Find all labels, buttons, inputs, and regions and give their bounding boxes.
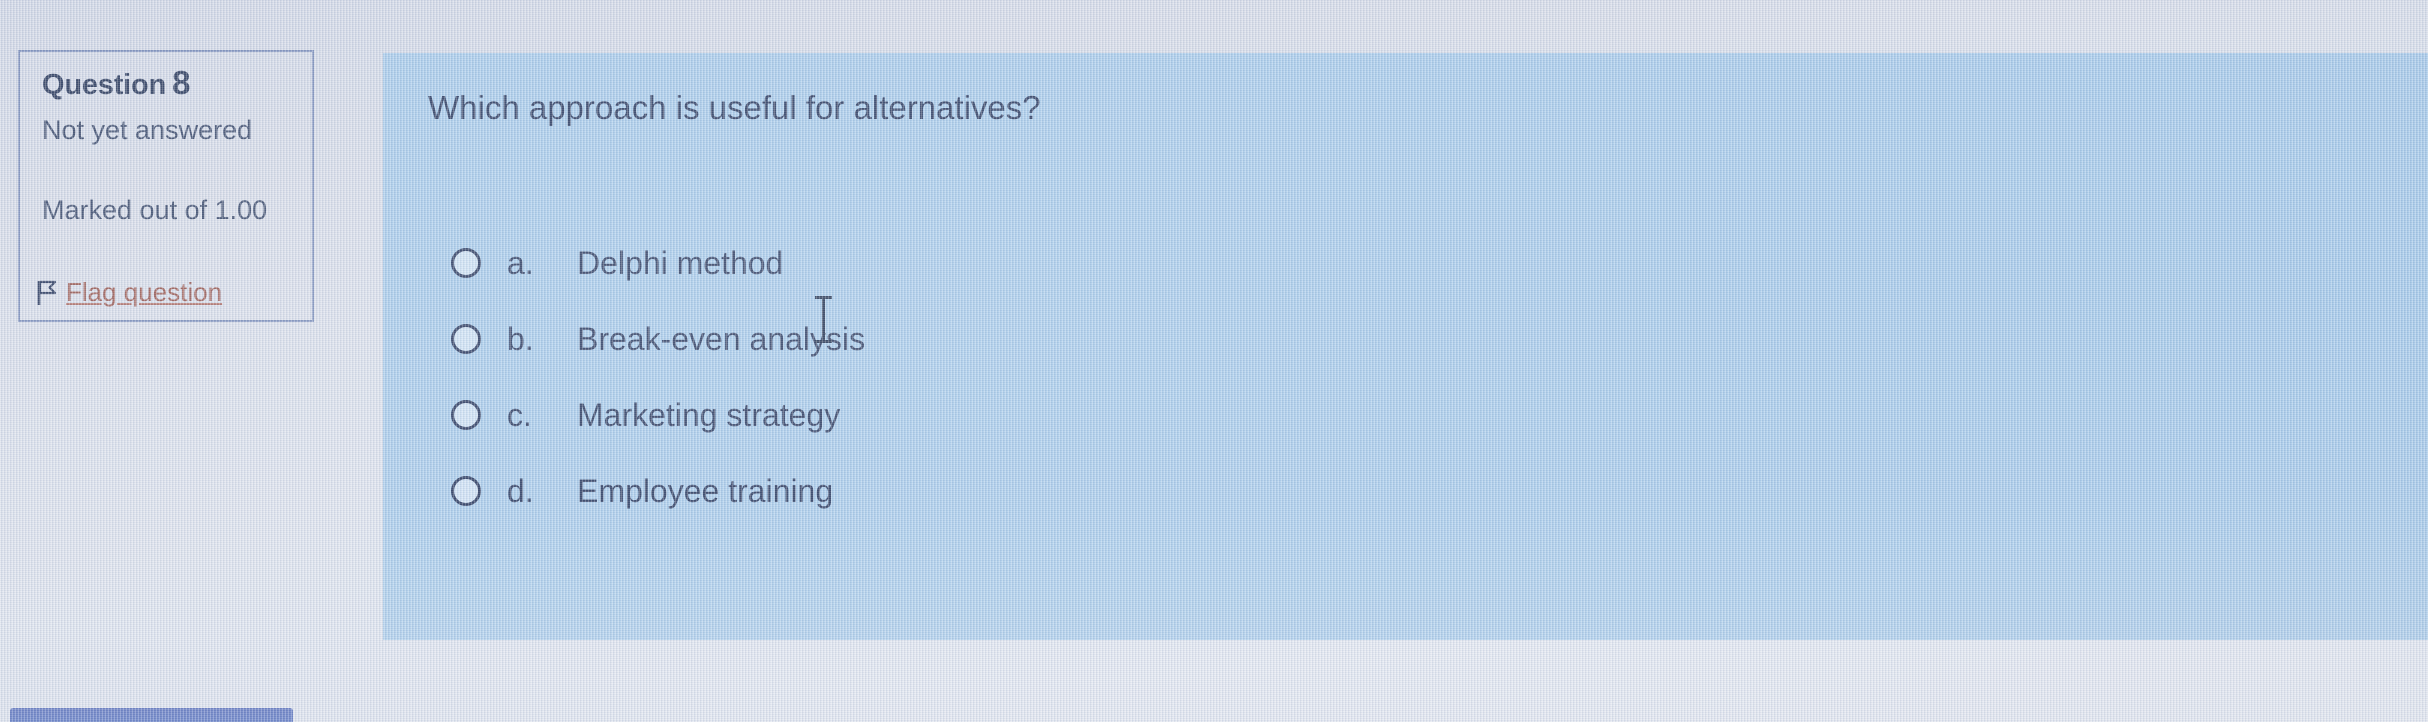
- radio-button-a[interactable]: [451, 248, 481, 278]
- question-info-box: Question8 Not yet answered Marked out of…: [18, 50, 314, 322]
- answer-option-b[interactable]: b. Break-even analysis: [451, 301, 1651, 377]
- question-number: 8: [172, 64, 190, 101]
- radio-button-d[interactable]: [451, 476, 481, 506]
- quiz-question-screen: Question8 Not yet answered Marked out of…: [0, 0, 2428, 722]
- question-text: Which approach is useful for alternative…: [428, 89, 1041, 127]
- flag-icon: [36, 280, 58, 306]
- answer-letter-b: b.: [507, 321, 577, 358]
- question-number-heading: Question8: [42, 64, 190, 102]
- answer-options-list: a. Delphi method b. Break-even analysis …: [451, 225, 1651, 529]
- answer-letter-c: c.: [507, 397, 577, 434]
- question-content-panel: Which approach is useful for alternative…: [383, 53, 2428, 640]
- answer-option-a[interactable]: a. Delphi method: [451, 225, 1651, 301]
- answer-text-b[interactable]: Break-even analysis: [577, 321, 865, 358]
- radio-button-b[interactable]: [451, 324, 481, 354]
- answer-option-d[interactable]: d. Employee training: [451, 453, 1651, 529]
- answer-option-c[interactable]: c. Marketing strategy: [451, 377, 1651, 453]
- question-marks: Marked out of 1.00: [42, 194, 292, 227]
- answer-text-c[interactable]: Marketing strategy: [577, 397, 840, 434]
- answer-letter-d: d.: [507, 473, 577, 510]
- question-label: Question: [42, 69, 166, 101]
- bottom-blue-bar: [10, 708, 293, 722]
- answer-text-d[interactable]: Employee training: [577, 473, 833, 510]
- radio-button-c[interactable]: [451, 400, 481, 430]
- answer-letter-a: a.: [507, 245, 577, 282]
- answer-text-a[interactable]: Delphi method: [577, 245, 783, 282]
- flag-question-link[interactable]: Flag question: [66, 276, 271, 309]
- question-state: Not yet answered: [42, 114, 292, 147]
- flag-question-control[interactable]: Flag question: [36, 276, 306, 309]
